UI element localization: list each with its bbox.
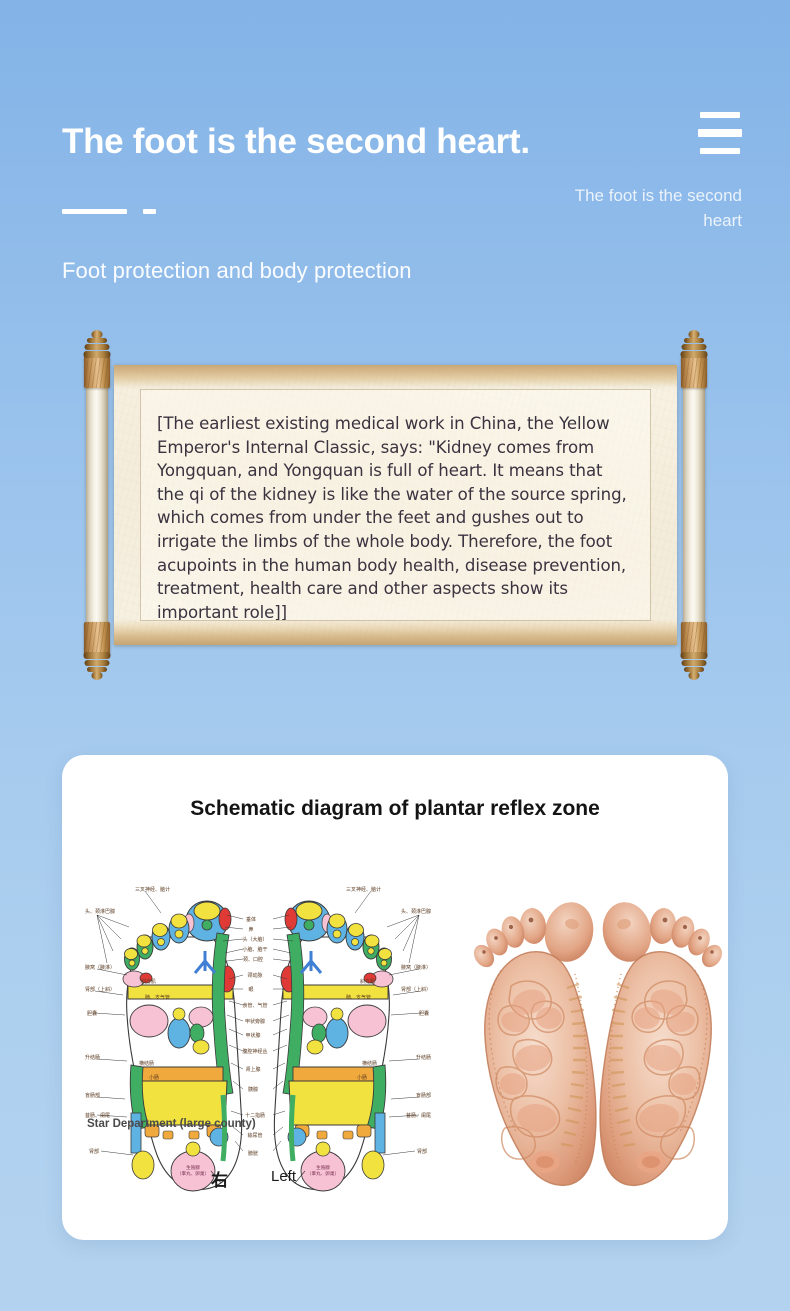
title-underline-decoration bbox=[62, 209, 156, 214]
svg-text:甲状腺: 甲状腺 bbox=[245, 1032, 260, 1039]
svg-text:横结肠: 横结肠 bbox=[139, 1060, 154, 1067]
svg-text:（睾丸、卵巢）: （睾丸、卵巢） bbox=[177, 1170, 209, 1177]
svg-text:肾部（上斜）: 肾部（上斜） bbox=[401, 986, 431, 993]
overlay-label-right-foot: 右 bbox=[211, 1166, 228, 1191]
svg-text:肾部: 肾部 bbox=[89, 1148, 99, 1155]
scroll-inner-frame: [The earliest existing medical work in C… bbox=[140, 389, 651, 621]
svg-text:垂体: 垂体 bbox=[246, 916, 256, 923]
card-title: Schematic diagram of plantar reflex zone bbox=[62, 797, 728, 821]
svg-text:胰腺: 胰腺 bbox=[248, 1086, 258, 1093]
scroll-quote-text: [The earliest existing medical work in C… bbox=[157, 412, 634, 621]
finial-disc bbox=[84, 652, 111, 659]
svg-text:生殖腺: 生殖腺 bbox=[316, 1164, 330, 1171]
scroll-rod-right bbox=[679, 330, 709, 680]
page-header: The foot is the second heart. The foot i… bbox=[0, 0, 790, 310]
svg-text:小脑、脑干: 小脑、脑干 bbox=[242, 946, 267, 953]
scroll-finial-top bbox=[680, 330, 708, 360]
svg-text:肾部（上斜）: 肾部（上斜） bbox=[85, 986, 115, 993]
scroll-rod-left bbox=[82, 330, 112, 680]
hamburger-bar-top bbox=[700, 112, 740, 118]
foot-soles-photo bbox=[469, 886, 728, 1201]
underline-bar-short bbox=[143, 209, 156, 214]
finial-disc bbox=[684, 338, 704, 343]
scroll-finial-bottom bbox=[680, 650, 708, 680]
plantar-reflex-zone-diagram: 三叉神经 bbox=[83, 883, 433, 1203]
finial-knob bbox=[92, 671, 103, 680]
scroll-paper: [The earliest existing medical work in C… bbox=[114, 365, 677, 645]
svg-text:颈动脉: 颈动脉 bbox=[247, 972, 262, 979]
svg-text:甲状旁腺: 甲状旁腺 bbox=[245, 1018, 265, 1025]
foot-soles-illustration bbox=[469, 886, 728, 1201]
svg-text:膀胱: 膀胱 bbox=[248, 1150, 258, 1157]
card-body: 三叉神经 bbox=[62, 860, 728, 1226]
scroll-rod-band-top bbox=[84, 356, 110, 388]
reflex-zone-card: Schematic diagram of plantar reflex zone bbox=[62, 755, 728, 1240]
finial-disc bbox=[85, 344, 110, 350]
ancient-scroll-banner: [The earliest existing medical work in C… bbox=[68, 330, 723, 680]
svg-text:升结肠: 升结肠 bbox=[85, 1054, 100, 1061]
svg-text:眼: 眼 bbox=[248, 987, 253, 993]
svg-text:升结肠: 升结肠 bbox=[416, 1054, 431, 1061]
svg-text:生殖腺: 生殖腺 bbox=[186, 1164, 200, 1171]
overlay-label-left-foot: Left bbox=[271, 1168, 296, 1185]
svg-text:小肠: 小肠 bbox=[149, 1074, 159, 1081]
svg-text:食管、气管: 食管、气管 bbox=[242, 1002, 267, 1009]
svg-text:肺、支气管: 肺、支气管 bbox=[346, 994, 371, 1001]
svg-text:三叉神经、脑计: 三叉神经、脑计 bbox=[346, 886, 381, 893]
page-title: The foot is the second heart. bbox=[62, 122, 530, 162]
svg-text:头、颈淋巴腺: 头、颈淋巴腺 bbox=[401, 908, 431, 915]
svg-text:肾部: 肾部 bbox=[417, 1148, 427, 1155]
svg-text:小肠: 小肠 bbox=[357, 1074, 367, 1081]
hamburger-bar-bottom bbox=[700, 148, 740, 154]
svg-text:三叉神经、脑计: 三叉神经、脑计 bbox=[135, 886, 170, 893]
finial-disc bbox=[681, 351, 708, 358]
header-side-label: The foot is the second heart bbox=[562, 184, 742, 233]
svg-text:腹腔神经丛: 腹腔神经丛 bbox=[242, 1048, 267, 1055]
finial-disc bbox=[681, 652, 708, 659]
scroll-finial-top bbox=[83, 330, 111, 360]
page-subtitle: Foot protection and body protection bbox=[62, 258, 412, 284]
svg-text:输尿管: 输尿管 bbox=[247, 1132, 262, 1139]
svg-text:苜肠、阑尾: 苜肠、阑尾 bbox=[406, 1112, 431, 1119]
svg-text:胆囊: 胆囊 bbox=[87, 1010, 97, 1017]
svg-text:肺、支气管: 肺、支气管 bbox=[145, 994, 170, 1001]
finial-disc bbox=[84, 351, 111, 358]
scroll-rod-shaft bbox=[86, 356, 108, 654]
svg-text:腋窝（腋淋）: 腋窝（腋淋） bbox=[401, 964, 431, 971]
svg-text:横结肠: 横结肠 bbox=[362, 1060, 377, 1067]
finial-disc bbox=[682, 660, 707, 666]
svg-text:（睾丸、卵巢）: （睾丸、卵巢） bbox=[307, 1170, 339, 1177]
hamburger-menu-icon[interactable] bbox=[698, 112, 742, 154]
svg-text:盲肠部: 盲肠部 bbox=[416, 1092, 431, 1099]
scroll-rod-shaft bbox=[683, 356, 705, 654]
svg-text:腋窝（腋淋）: 腋窝（腋淋） bbox=[85, 964, 115, 971]
scroll-rod-band-top bbox=[681, 356, 707, 388]
scroll-finial-bottom bbox=[83, 650, 111, 680]
reflex-zone-illustration: 三叉神经 bbox=[83, 883, 433, 1203]
svg-text:头、颈淋巴腺: 头、颈淋巴腺 bbox=[85, 908, 115, 915]
finial-disc bbox=[682, 344, 707, 350]
svg-text:肾上腺: 肾上腺 bbox=[245, 1066, 260, 1073]
svg-text:斜方肌: 斜方肌 bbox=[360, 978, 375, 985]
underline-bar-long bbox=[62, 209, 127, 214]
svg-text:斜方肌: 斜方肌 bbox=[141, 978, 156, 985]
svg-text:盲肠部: 盲肠部 bbox=[85, 1092, 100, 1099]
svg-text:鼻: 鼻 bbox=[248, 926, 253, 933]
svg-text:头（大脑）: 头（大脑） bbox=[242, 936, 267, 943]
finial-disc bbox=[87, 338, 107, 343]
overlay-label-star-department: Star Department (large county) bbox=[87, 1118, 256, 1130]
svg-text:胆囊: 胆囊 bbox=[419, 1010, 429, 1017]
finial-knob bbox=[689, 671, 700, 680]
finial-disc bbox=[85, 660, 110, 666]
svg-text:颈、口腔: 颈、口腔 bbox=[243, 956, 263, 963]
hamburger-bar-middle bbox=[698, 129, 742, 137]
